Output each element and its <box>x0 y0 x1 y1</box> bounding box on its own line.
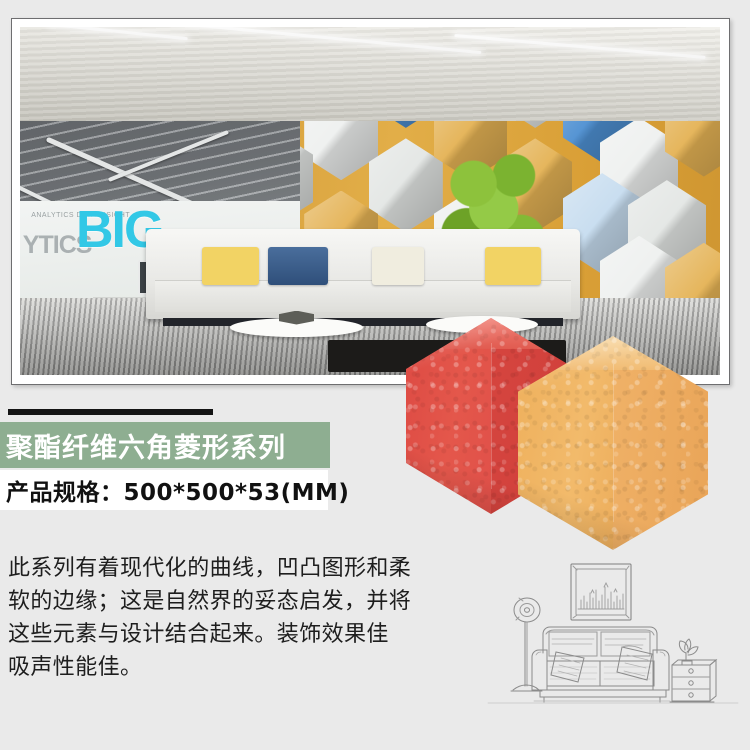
sofa-pillow-yellow <box>202 247 258 285</box>
description-line: 软的边缘；这是自然界的妥态启发，并将 <box>8 585 428 618</box>
title-accent-bar <box>8 409 213 415</box>
product-sample-group <box>400 296 740 536</box>
ceiling-duct <box>108 130 229 182</box>
panel-center-ridge <box>613 364 614 522</box>
description-line: 这些元素与设计结合起来。装饰效果佳 <box>8 618 428 651</box>
sketch-nightstand <box>670 639 716 702</box>
sofa-pillow-yellow <box>485 247 541 285</box>
living-room-sketch <box>470 535 745 735</box>
strip-light <box>147 27 482 54</box>
panel-center-ridge <box>491 343 492 488</box>
sofa-pillow-cream <box>372 247 424 285</box>
description-line: 此系列有着现代化的曲线，凹凸图形和柔 <box>8 552 428 585</box>
product-spec-banner: 产品规格：500*500*53(MM) <box>0 470 328 510</box>
sketch-wall-picture <box>571 564 631 620</box>
product-description: 此系列有着现代化的曲线，凹凸图形和柔 软的边缘；这是自然界的妥态启发，并将 这些… <box>8 552 428 684</box>
product-spec-text: 产品规格：500*500*53(MM) <box>0 473 349 507</box>
product-marketing-page: ANALYTICS DATA INSIGHT YTICS BIG <box>0 0 750 750</box>
series-title-text: 聚酯纤维六角菱形系列 <box>0 426 286 465</box>
strip-light <box>454 34 705 59</box>
sketch-sofa <box>532 627 670 702</box>
sofa-pillow-blue <box>268 247 329 285</box>
series-title-banner: 聚酯纤维六角菱形系列 <box>0 422 330 468</box>
sketch-floor-lamp <box>511 598 542 691</box>
description-line: 吸声性能佳。 <box>8 651 428 684</box>
corrugated-ceiling <box>20 27 720 121</box>
strip-light <box>48 27 188 40</box>
